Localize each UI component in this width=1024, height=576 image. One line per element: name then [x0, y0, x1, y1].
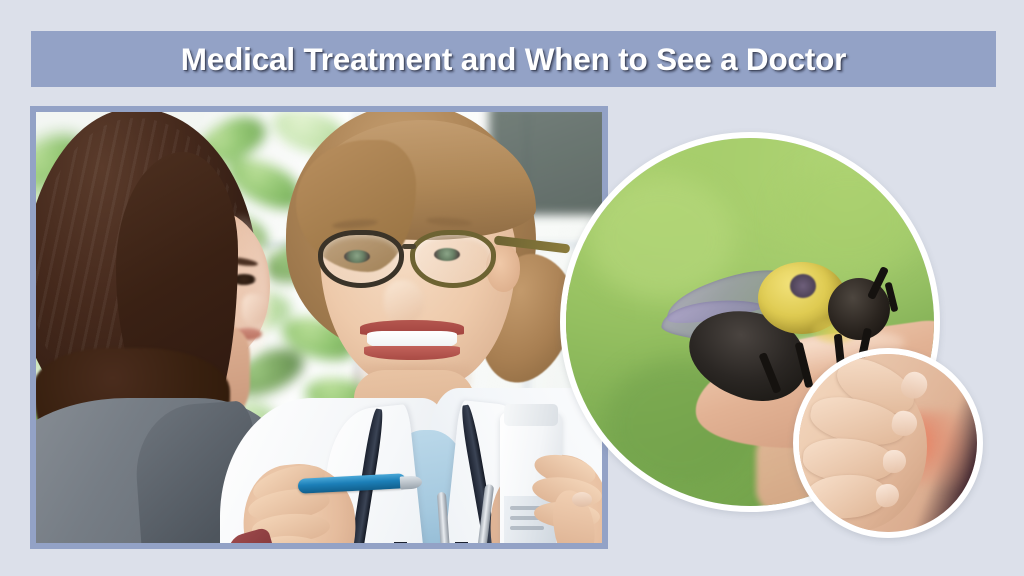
doctor-consultation-photo: [30, 106, 608, 549]
eyeglass-lens: [410, 230, 496, 288]
stethoscope-tube-loop: [394, 542, 468, 543]
title-banner: Medical Treatment and When to See a Doct…: [31, 31, 996, 87]
skin-reaction-photo: [793, 348, 983, 538]
bee-head: [828, 278, 890, 340]
eyeglasses-icon: [318, 228, 532, 290]
lower-lip: [364, 346, 460, 360]
doctor-smile: [360, 320, 464, 360]
eyeglass-lens: [318, 230, 404, 288]
page-title: Medical Treatment and When to See a Doct…: [181, 41, 846, 78]
label-text-line: [510, 526, 544, 530]
eyeglass-bridge: [402, 244, 416, 249]
bee-thorax-marking: [790, 274, 816, 298]
doctor-nose: [384, 280, 424, 324]
pill-bottle-cap: [504, 404, 558, 426]
doctor-figure: [234, 112, 602, 543]
photo-content: [36, 112, 602, 543]
